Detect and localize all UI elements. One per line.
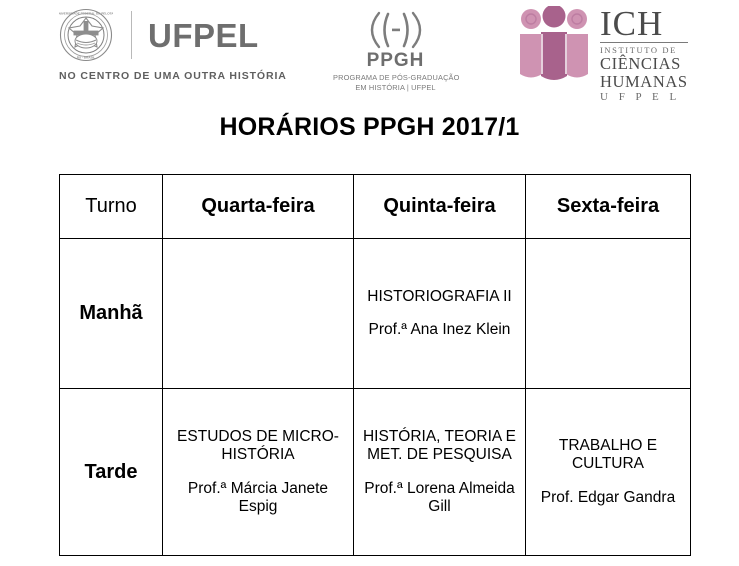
ppgh-h-monogram-icon <box>333 10 458 50</box>
cell-tarde-sexta: TRABALHO E CULTURA Prof. Edgar Gandra <box>526 389 691 556</box>
cell-tarde-quarta: ESTUDOS DE MICRO-HISTÓRIA Prof.ª Márcia … <box>163 389 354 556</box>
ppgh-wordmark: PPGH <box>333 51 458 70</box>
column-header-turno: Turno <box>60 175 163 239</box>
turno-label-tarde: Tarde <box>60 389 163 556</box>
turno-label-manha: Manhã <box>60 239 163 389</box>
cell-manha-quarta <box>163 239 354 389</box>
professor-name: Prof.ª Ana Inez Klein <box>360 321 519 339</box>
table-row: Manhã HISTORIOGRAFIA II Prof.ª Ana Inez … <box>60 239 691 389</box>
ufpel-wordmark: UFPEL <box>148 19 259 52</box>
professor-name: Prof.ª Márcia Janete Espig <box>169 480 347 517</box>
course-name: HISTÓRIA, TEORIA E MET. DE PESQUISA <box>360 428 519 465</box>
table-row: Tarde ESTUDOS DE MICRO-HISTÓRIA Prof.ª M… <box>60 389 691 556</box>
ich-three-figures-icon <box>516 6 592 84</box>
professor-name: Prof. Edgar Gandra <box>532 489 684 507</box>
ich-ufpel-line: U F P E L <box>600 91 688 105</box>
ppgh-subtitle-line1: PROGRAMA DE PÓS-GRADUAÇÃO <box>333 73 458 83</box>
ich-logo: ICH INSTITUTO DE CIÊNCIAS HUMANAS U F P … <box>516 6 692 92</box>
ufpel-logo: UNIVERSIDADE FEDERAL DE PELOTAS RS - BRA… <box>59 6 289 88</box>
schedule-table: Turno Quarta-feira Quinta-feira Sexta-fe… <box>59 174 691 556</box>
column-header-quinta: Quinta-feira <box>354 175 526 239</box>
ich-humanas-line: HUMANAS <box>600 73 688 91</box>
course-name: TRABALHO E CULTURA <box>532 437 684 474</box>
column-header-quarta: Quarta-feira <box>163 175 354 239</box>
ppgh-logo: PPGH PROGRAMA DE PÓS-GRADUAÇÃO EM HISTÓR… <box>333 10 458 92</box>
column-header-sexta: Sexta-feira <box>526 175 691 239</box>
ufpel-seal-icon: UNIVERSIDADE FEDERAL DE PELOTAS RS - BRA… <box>59 8 113 62</box>
page-title: HORÁRIOS PPGH 2017/1 <box>0 113 739 142</box>
cell-manha-quinta: HISTORIOGRAFIA II Prof.ª Ana Inez Klein <box>354 239 526 389</box>
svg-text:RS - BRASIL: RS - BRASIL <box>77 55 96 59</box>
ufpel-tagline: NO CENTRO DE UMA OUTRA HISTÓRIA <box>59 70 289 82</box>
ich-wordmark: ICH <box>600 8 688 40</box>
header-logo-band: UNIVERSIDADE FEDERAL DE PELOTAS RS - BRA… <box>0 0 739 100</box>
cell-manha-sexta <box>526 239 691 389</box>
ppgh-subtitle-line2: EM HISTÓRIA | UFPEL <box>333 83 458 93</box>
ufpel-divider <box>131 11 132 59</box>
cell-tarde-quinta: HISTÓRIA, TEORIA E MET. DE PESQUISA Prof… <box>354 389 526 556</box>
professor-name: Prof.ª Lorena Almeida Gill <box>360 480 519 517</box>
table-header-row: Turno Quarta-feira Quinta-feira Sexta-fe… <box>60 175 691 239</box>
ich-ciencias-line: CIÊNCIAS <box>600 55 688 73</box>
svg-text:UNIVERSIDADE FEDERAL DE PELOTA: UNIVERSIDADE FEDERAL DE PELOTAS <box>59 12 113 16</box>
course-name: HISTORIOGRAFIA II <box>360 288 519 306</box>
course-name: ESTUDOS DE MICRO-HISTÓRIA <box>169 428 347 465</box>
